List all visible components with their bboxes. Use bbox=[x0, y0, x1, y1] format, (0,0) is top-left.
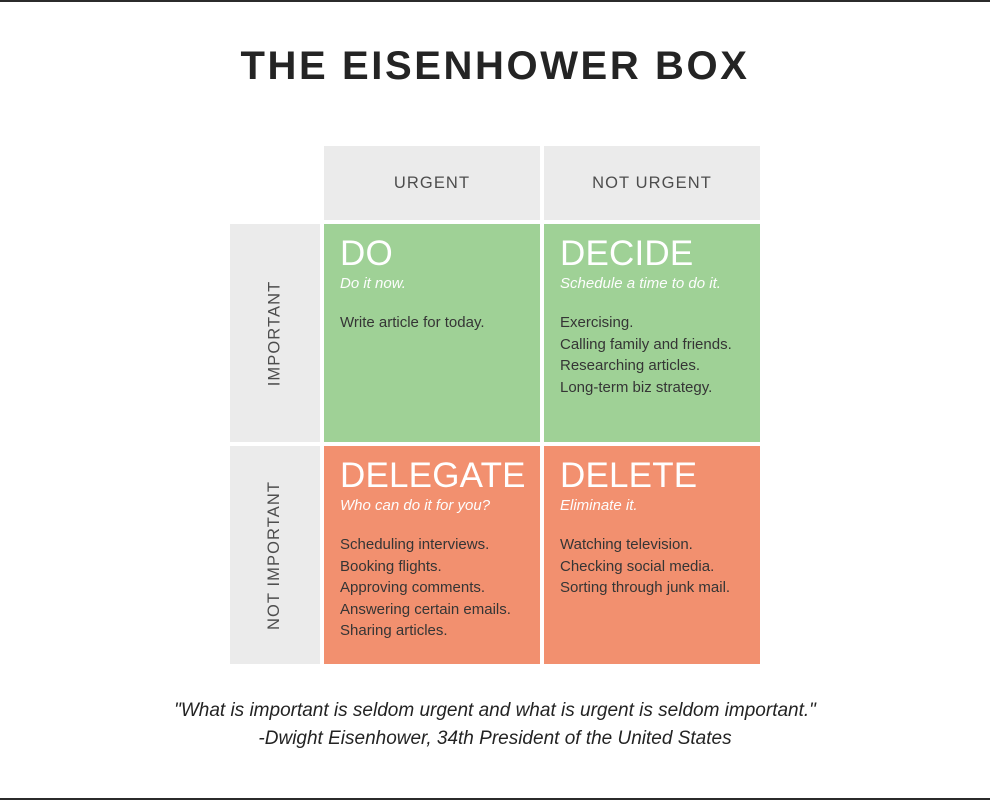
list-item: Scheduling interviews. bbox=[340, 534, 540, 556]
list-item: Checking social media. bbox=[560, 556, 760, 578]
list-item: Calling family and friends. bbox=[560, 334, 760, 356]
list-item: Watching television. bbox=[560, 534, 760, 556]
list-item: Researching articles. bbox=[560, 355, 760, 377]
row-header-not-important-label: NOT IMPORTANT bbox=[266, 480, 285, 629]
quadrant-decide: DECIDE Schedule a time to do it. Exercis… bbox=[544, 224, 760, 442]
matrix-corner-blank bbox=[230, 146, 320, 220]
list-item: Sharing articles. bbox=[340, 620, 540, 642]
quote-text: "What is important is seldom urgent and … bbox=[0, 697, 990, 725]
row-header-not-important: NOT IMPORTANT bbox=[230, 446, 320, 664]
eisenhower-matrix: URGENT NOT URGENT IMPORTANT DO Do it now… bbox=[230, 146, 760, 664]
quadrant-decide-title: DECIDE bbox=[560, 236, 760, 272]
quadrant-delete-title: DELETE bbox=[560, 458, 760, 494]
quadrant-do-title: DO bbox=[340, 236, 540, 272]
list-item: Answering certain emails. bbox=[340, 599, 540, 621]
column-header-not-urgent-label: NOT URGENT bbox=[592, 174, 712, 193]
quadrant-do-list: Write article for today. bbox=[340, 312, 540, 334]
list-item: Approving comments. bbox=[340, 577, 540, 599]
list-item: Booking flights. bbox=[340, 556, 540, 578]
quadrant-delegate-subtitle: Who can do it for you? bbox=[340, 497, 540, 516]
quote-attribution: -Dwight Eisenhower, 34th President of th… bbox=[0, 725, 990, 753]
quadrant-do: DO Do it now. Write article for today. bbox=[324, 224, 540, 442]
list-item: Sorting through junk mail. bbox=[560, 577, 760, 599]
column-header-not-urgent: NOT URGENT bbox=[544, 146, 760, 220]
quadrant-delegate-list: Scheduling interviews. Booking flights. … bbox=[340, 534, 540, 642]
list-item: Exercising. bbox=[560, 312, 760, 334]
quadrant-do-subtitle: Do it now. bbox=[340, 275, 540, 294]
quadrant-delegate-title: DELEGATE bbox=[340, 458, 540, 494]
quadrant-delegate: DELEGATE Who can do it for you? Scheduli… bbox=[324, 446, 540, 664]
column-header-urgent-label: URGENT bbox=[394, 174, 470, 193]
eisenhower-box-page: THE EISENHOWER BOX URGENT NOT URGENT IMP… bbox=[0, 0, 990, 800]
quote-block: "What is important is seldom urgent and … bbox=[0, 697, 990, 753]
page-title: THE EISENHOWER BOX bbox=[0, 44, 990, 89]
quadrant-decide-subtitle: Schedule a time to do it. bbox=[560, 275, 760, 294]
list-item: Long-term biz strategy. bbox=[560, 377, 760, 399]
list-item: Write article for today. bbox=[340, 312, 540, 334]
quadrant-decide-list: Exercising. Calling family and friends. … bbox=[560, 312, 760, 398]
quadrant-delete: DELETE Eliminate it. Watching television… bbox=[544, 446, 760, 664]
quadrant-delete-list: Watching television. Checking social med… bbox=[560, 534, 760, 599]
row-header-important-label: IMPORTANT bbox=[266, 280, 285, 386]
row-header-important: IMPORTANT bbox=[230, 224, 320, 442]
column-header-urgent: URGENT bbox=[324, 146, 540, 220]
quadrant-delete-subtitle: Eliminate it. bbox=[560, 497, 760, 516]
